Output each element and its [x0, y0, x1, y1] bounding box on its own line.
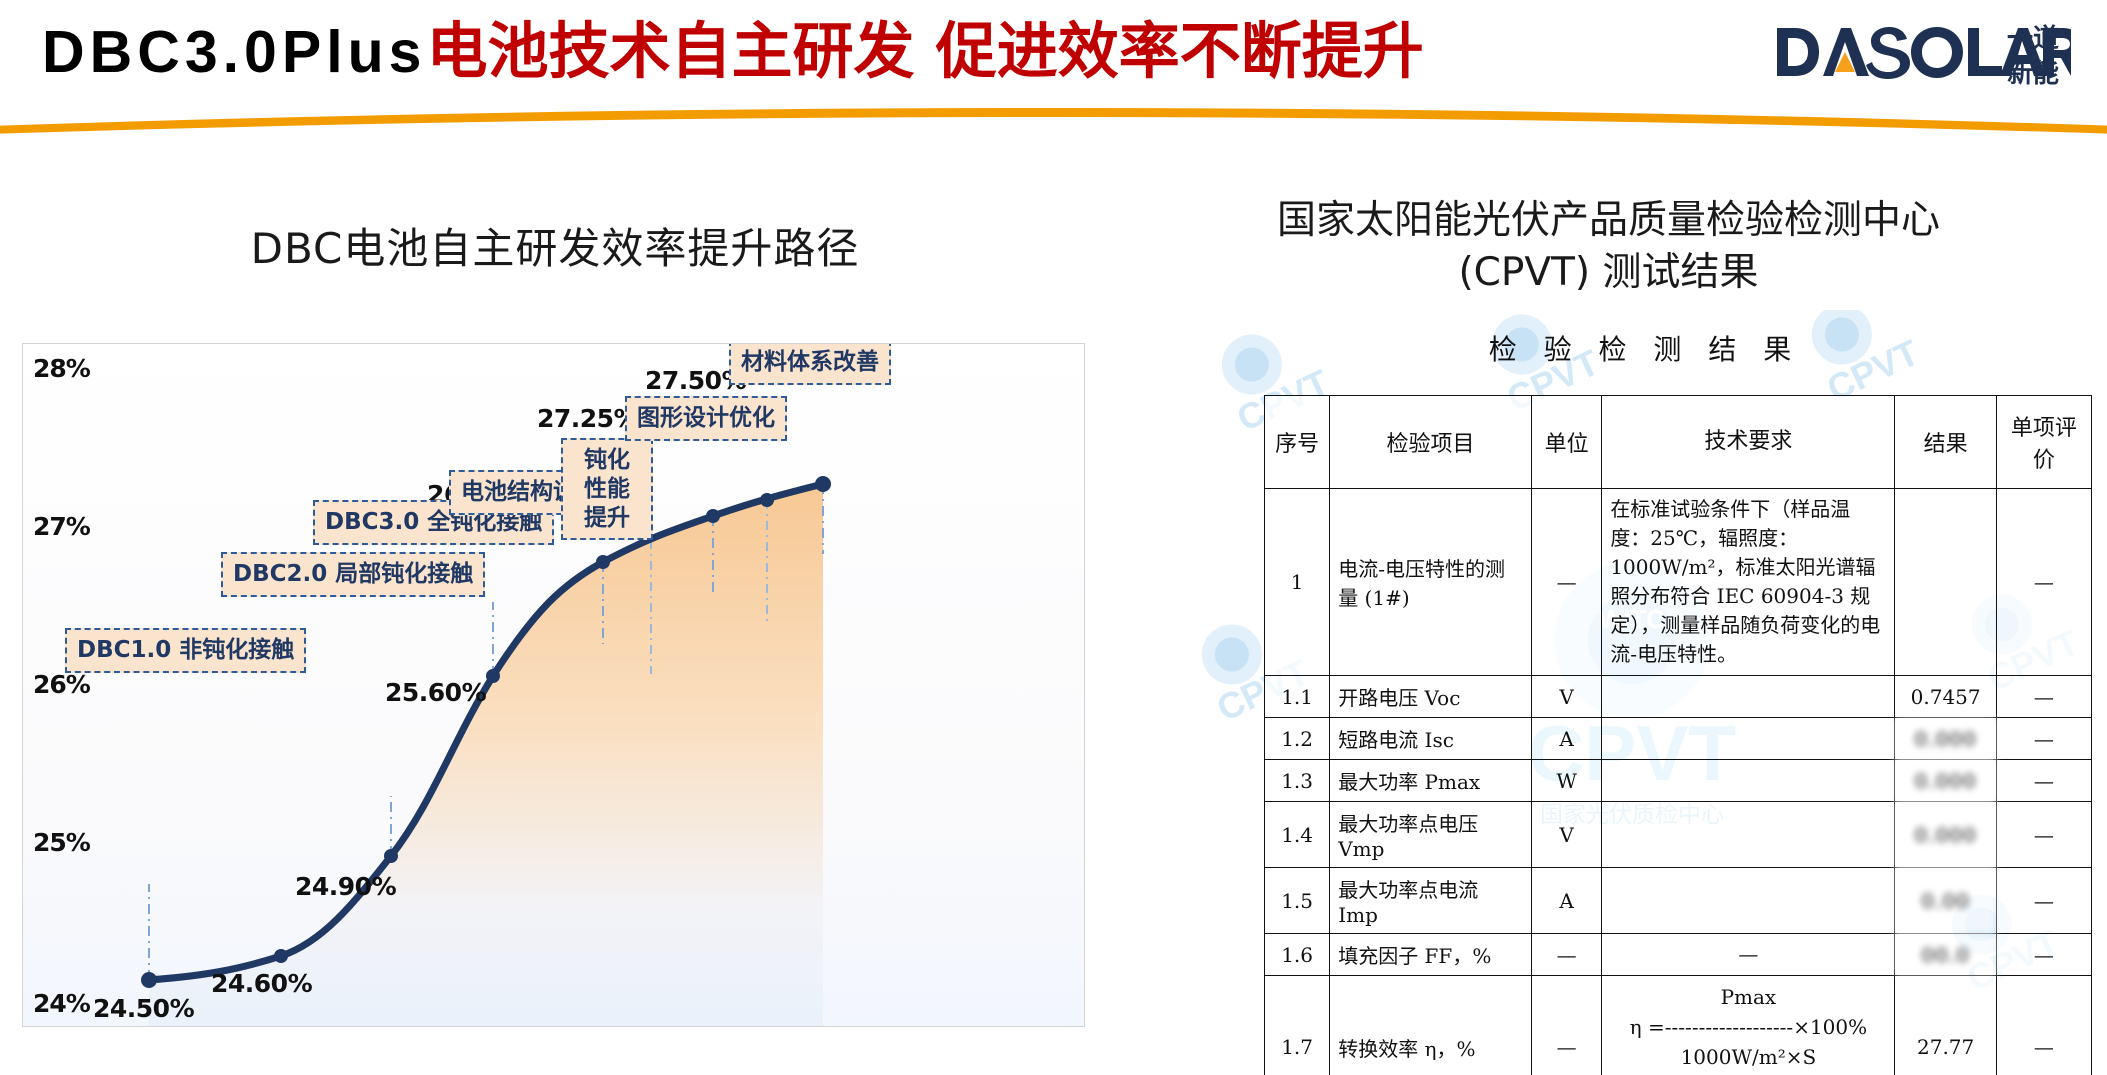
- cell-res: 0.000: [1895, 760, 1996, 802]
- cell-unit: —: [1531, 489, 1601, 676]
- cell-req: [1602, 802, 1895, 868]
- cell-eval: —: [1996, 760, 2091, 802]
- cell-no: 1.1: [1265, 676, 1330, 718]
- cell-req: —: [1602, 934, 1895, 976]
- cell-item: 电流-电压特性的测量 (1#): [1330, 489, 1532, 676]
- cell-res: [1895, 489, 1996, 676]
- inspection-results-table: 序号 检验项目 单位 技术要求 结果 单项评价 1 电流-电压特性的测量 (1#…: [1264, 395, 2092, 1075]
- page-title-cn: 电池技术自主研发 促进效率不断提升: [426, 16, 1423, 87]
- formula-times: ×100%: [1793, 1015, 1867, 1039]
- cell-unit: A: [1531, 718, 1601, 760]
- data-label-4: 25.60%: [385, 678, 486, 707]
- cell-req: [1602, 718, 1895, 760]
- cell-unit: V: [1531, 802, 1601, 868]
- col-header-req: 技术要求: [1602, 396, 1895, 489]
- cell-unit: A: [1531, 868, 1601, 934]
- callout-pattern: 图形设计优化: [625, 396, 787, 441]
- table-row: 1.2 短路电流 Isc A 0.000 —: [1265, 718, 2092, 760]
- cell-eval: —: [1996, 934, 2091, 976]
- cell-req: [1602, 676, 1895, 718]
- y-tick-26: 26%: [33, 670, 90, 699]
- cell-res: 0.000: [1895, 718, 1996, 760]
- table-row: 1.5 最大功率点电流 Imp A 0.00 —: [1265, 868, 2092, 934]
- table-header-row: 序号 检验项目 单位 技术要求 结果 单项评价: [1265, 396, 2092, 489]
- svg-text:新能: 新能: [2007, 58, 2059, 89]
- chart-section: DBC电池自主研发效率提升路径: [0, 140, 1110, 1060]
- cell-unit: W: [1531, 760, 1601, 802]
- cell-unit: —: [1531, 976, 1601, 1075]
- col-header-eval: 单项评价: [1996, 396, 2091, 489]
- y-tick-27: 27%: [33, 512, 90, 541]
- cell-item: 最大功率点电流 Imp: [1330, 868, 1532, 934]
- dasolar-logo: 一道 新能: [1771, 14, 2071, 92]
- cell-item: 开路电压 Voc: [1330, 676, 1532, 718]
- cell-no: 1.5: [1265, 868, 1330, 934]
- cell-res: 00.0: [1895, 934, 1996, 976]
- cpvt-title-line1: 国家太阳能光伏产品质量检验检测中心: [1110, 195, 2107, 247]
- data-label-2: 24.60%: [211, 969, 312, 998]
- table-row: 1.1 开路电压 Voc V 0.7457 —: [1265, 676, 2092, 718]
- cell-eval: —: [1996, 676, 2091, 718]
- cell-eval: —: [1996, 718, 2091, 760]
- header-divider: [0, 96, 2107, 136]
- cell-res: 0.000: [1895, 802, 1996, 868]
- cpvt-title-line2: (CPVT) 测试结果: [1110, 247, 2107, 299]
- table-row: 1 电流-电压特性的测量 (1#) — 在标准试验条件下（样品温度：25℃，辐照…: [1265, 489, 2092, 676]
- cell-req: 在标准试验条件下（样品温度：25℃，辐照度：1000W/m²，标准太阳光谱辐照分…: [1602, 489, 1895, 676]
- cell-no: 1.3: [1265, 760, 1330, 802]
- cell-item: 转换效率 η，%: [1330, 976, 1532, 1075]
- doc-heading: 检 验 检 测 结 果: [1182, 328, 2107, 368]
- cell-req-formula: Pmax η =-------------------×100% 1000W/m…: [1602, 976, 1895, 1075]
- cell-unit: V: [1531, 676, 1601, 718]
- cell-item: 填充因子 FF，%: [1330, 934, 1532, 976]
- cell-eval: —: [1996, 802, 2091, 868]
- cell-no: 1.6: [1265, 934, 1330, 976]
- efficiency-line-chart: 28% 27% 26% 25% 24% 24.50% 24.60% 24.90%…: [22, 343, 1085, 1027]
- cpvt-report-section: 国家太阳能光伏产品质量检验检测中心 (CPVT) 测试结果 CPVT CPVT: [1110, 140, 2107, 1075]
- callout-dbc2: DBC2.0 局部钝化接触: [221, 552, 485, 597]
- table-row: 1.3 最大功率 Pmax W 0.000 —: [1265, 760, 2092, 802]
- slide-header: DBC3.0Plus电池技术自主研发 促进效率不断提升: [0, 0, 2107, 128]
- data-label-3: 24.90%: [295, 872, 396, 901]
- cell-item: 短路电流 Isc: [1330, 718, 1532, 760]
- col-header-unit: 单位: [1531, 396, 1601, 489]
- formula-numerator: Pmax: [1721, 985, 1777, 1009]
- y-tick-25: 25%: [33, 828, 90, 857]
- page-title: DBC3.0Plus电池技术自主研发 促进效率不断提升: [42, 14, 1424, 90]
- cell-eval: —: [1996, 868, 2091, 934]
- col-header-no: 序号: [1265, 396, 1330, 489]
- cell-no: 1.4: [1265, 802, 1330, 868]
- cpvt-document: CPVT CPVT CPVT CPVT: [1182, 310, 2107, 1075]
- data-label-1: 24.50%: [93, 994, 194, 1023]
- cell-req: [1602, 868, 1895, 934]
- callout-material: 材料体系改善: [729, 343, 891, 385]
- page-title-en: DBC3.0Plus: [42, 19, 426, 85]
- callout-passivation: 钝化性能提升: [561, 438, 653, 540]
- table-row: 1.7 转换效率 η，% — Pmax η =-----------------…: [1265, 976, 2092, 1075]
- cell-res: 0.7457: [1895, 676, 1996, 718]
- cell-eval: —: [1996, 976, 2091, 1075]
- table-row: 1.4 最大功率点电压 Vmp V 0.000 —: [1265, 802, 2092, 868]
- formula-denominator: 1000W/m²×S: [1681, 1045, 1817, 1069]
- col-header-item: 检验项目: [1330, 396, 1532, 489]
- cpvt-title: 国家太阳能光伏产品质量检验检测中心 (CPVT) 测试结果: [1110, 195, 2107, 299]
- formula-dashes: -------------------: [1665, 1015, 1793, 1039]
- chart-title: DBC电池自主研发效率提升路径: [0, 215, 1110, 276]
- formula-eta: η =: [1630, 1015, 1665, 1039]
- cell-eval: —: [1996, 489, 2091, 676]
- cell-item: 最大功率点电压 Vmp: [1330, 802, 1532, 868]
- cell-no: 1.2: [1265, 718, 1330, 760]
- cell-res: 0.00: [1895, 868, 1996, 934]
- table-row: 1.6 填充因子 FF，% — — 00.0 —: [1265, 934, 2092, 976]
- col-header-res: 结果: [1895, 396, 1996, 489]
- data-label-6: 27.25%: [537, 404, 638, 433]
- svg-text:一道: 一道: [2007, 23, 2059, 54]
- cell-req: [1602, 760, 1895, 802]
- y-tick-28: 28%: [33, 354, 90, 383]
- cell-no: 1.7: [1265, 976, 1330, 1075]
- y-tick-24: 24%: [33, 989, 90, 1018]
- callout-dbc1: DBC1.0 非钝化接触: [65, 628, 306, 673]
- cell-item: 最大功率 Pmax: [1330, 760, 1532, 802]
- cell-unit: —: [1531, 934, 1601, 976]
- cell-no: 1: [1265, 489, 1330, 676]
- cell-res: 27.77: [1895, 976, 1996, 1075]
- slide-root: DBC3.0Plus电池技术自主研发 促进效率不断提升: [0, 0, 2107, 1075]
